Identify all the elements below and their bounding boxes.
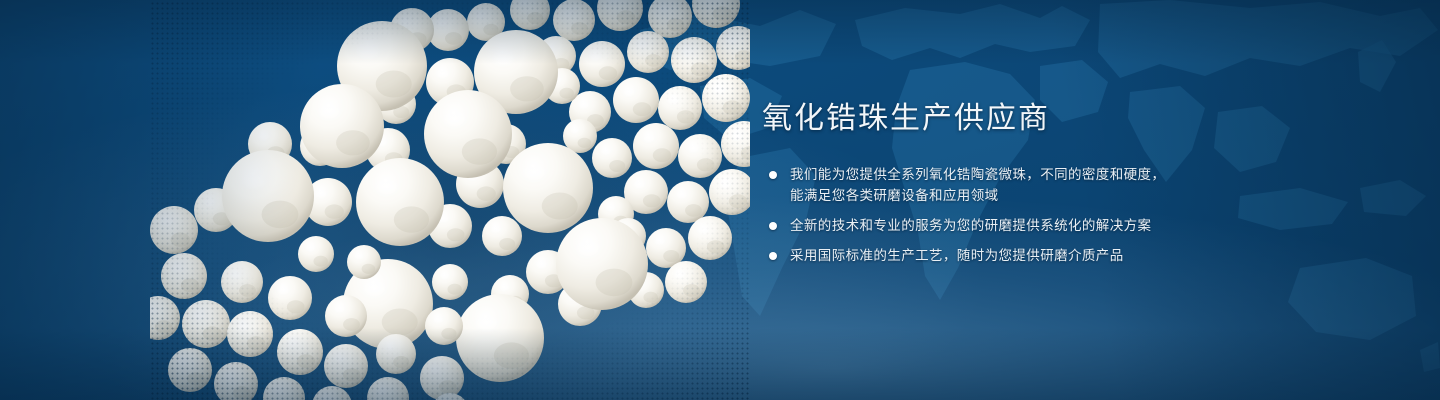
bullet-text: 我们能为您提供全系列氧化锆陶瓷微珠，不同的密度和硬度， 能满足您各类研磨设备和应… bbox=[790, 164, 1282, 206]
bullet-dot-icon bbox=[769, 171, 777, 179]
list-item: 采用国际标准的生产工艺，随时为您提供研磨介质产品 bbox=[762, 245, 1282, 266]
list-item: 全新的技术和专业的服务为您的研磨提供系统化的解决方案 bbox=[762, 215, 1282, 236]
list-item: 我们能为您提供全系列氧化锆陶瓷微珠，不同的密度和硬度， 能满足您各类研磨设备和应… bbox=[762, 164, 1282, 206]
banner-headline: 氧化锆珠生产供应商 bbox=[762, 96, 1282, 142]
bullet-dot-icon bbox=[769, 252, 777, 260]
bullet-text: 全新的技术和专业的服务为您的研磨提供系统化的解决方案 bbox=[790, 215, 1282, 236]
feature-bullet-list: 我们能为您提供全系列氧化锆陶瓷微珠，不同的密度和硬度， 能满足您各类研磨设备和应… bbox=[762, 164, 1282, 266]
hero-banner: 氧化锆珠生产供应商 我们能为您提供全系列氧化锆陶瓷微珠，不同的密度和硬度， 能满… bbox=[0, 0, 1440, 400]
bullet-dot-icon bbox=[769, 222, 777, 230]
banner-copy: 氧化锆珠生产供应商 我们能为您提供全系列氧化锆陶瓷微珠，不同的密度和硬度， 能满… bbox=[762, 96, 1282, 266]
bullet-text: 采用国际标准的生产工艺，随时为您提供研磨介质产品 bbox=[790, 245, 1282, 266]
